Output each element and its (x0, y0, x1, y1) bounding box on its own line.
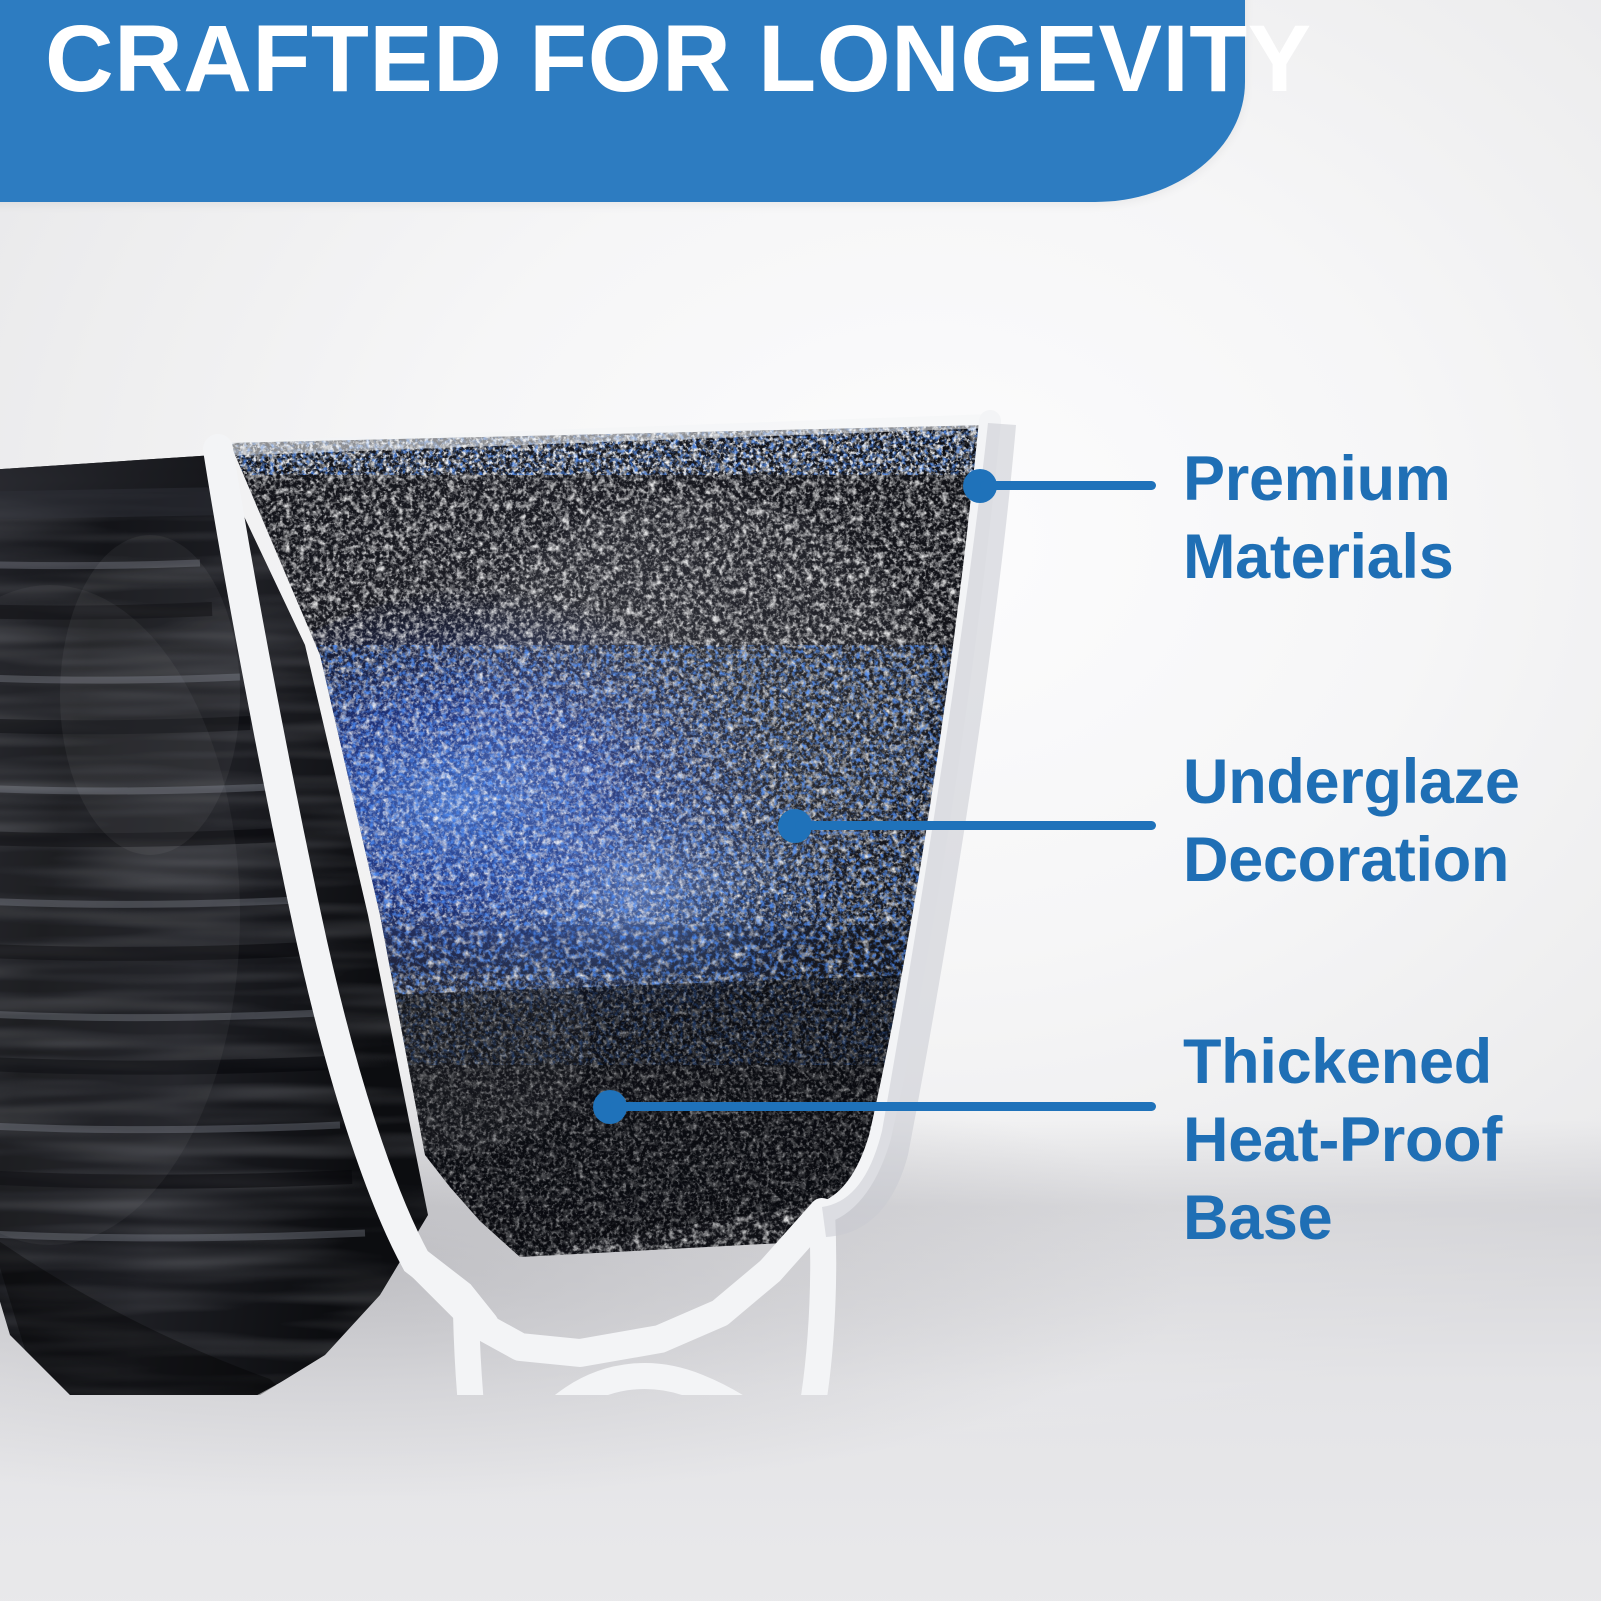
callout-label-line-2: Decoration (1183, 821, 1601, 899)
callout-line-thickened-heat-proof-base (610, 1102, 1156, 1111)
callout-label-premium-materials: Premium Materials (1183, 440, 1601, 596)
infographic-canvas: CRAFTED FOR LONGEVITY Premium Materials … (0, 0, 1601, 1601)
callout-label-line-2: Materials (1183, 518, 1601, 596)
callout-line-premium-materials (980, 481, 1156, 490)
callout-label-line-2: Heat-Proof (1183, 1101, 1601, 1179)
page-title: CRAFTED FOR LONGEVITY (45, 4, 1205, 114)
callout-label-thickened-heat-proof-base: Thickened Heat-Proof Base (1183, 1023, 1601, 1257)
callout-line-underglaze-decoration (795, 821, 1156, 830)
product-image (0, 395, 1020, 1395)
callout-label-line-1: Underglaze (1183, 743, 1601, 821)
callout-label-line-3: Base (1183, 1179, 1601, 1257)
callout-label-line-1: Premium (1183, 440, 1601, 518)
header-banner: CRAFTED FOR LONGEVITY (0, 0, 1245, 202)
callout-label-line-1: Thickened (1183, 1023, 1601, 1101)
callout-label-underglaze-decoration: Underglaze Decoration (1183, 743, 1601, 899)
